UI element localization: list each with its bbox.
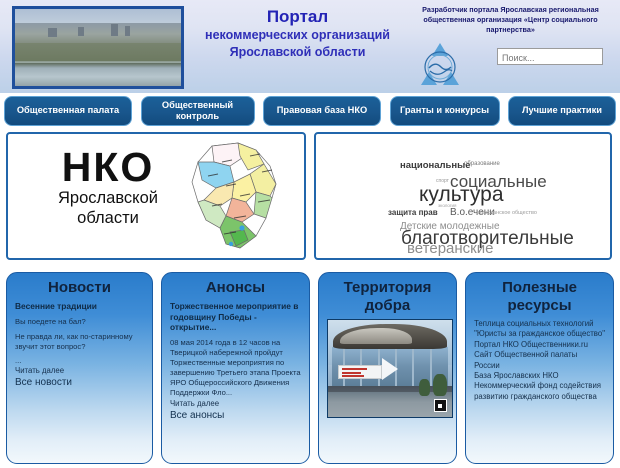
site-title-line-1: Портал [190, 6, 405, 27]
tag-cloud-item[interactable]: образование [464, 161, 500, 167]
site-title-line-2: некоммерческих организаций [190, 27, 405, 44]
main-navigation: Общественная палата Общественный контрол… [0, 96, 620, 126]
news-see-all-link[interactable]: Все новости [15, 376, 144, 390]
resource-link-noncommercial-fund[interactable]: Некоммерческий фонд содействия развитию … [474, 381, 605, 402]
news-item-ellipsis: ... [15, 357, 144, 365]
yaroslavl-panorama-photo [12, 6, 184, 89]
card-resources-title-line-1: Полезные [470, 279, 609, 297]
developer-credit-text: Разработчик портала Ярославская регионал… [408, 5, 613, 35]
nko-wordmark: НКО Ярославской области [34, 146, 182, 228]
tag-cloud-item[interactable]: ветеранские [407, 240, 493, 257]
resource-link-public-chamber[interactable]: Сайт Общественной палаты России [474, 350, 605, 371]
card-territory-of-kindness: Территория добра [318, 272, 457, 464]
resource-link-nko-database[interactable]: База Ярославских НКО [474, 371, 605, 381]
card-announcements-title: Анонсы [162, 273, 309, 299]
handshake-emblem-logo [414, 39, 466, 91]
card-resources-body: Теплица социальных технологий "Юристы за… [466, 317, 613, 406]
nko-region-line-1: Ярославской [34, 188, 182, 208]
content-cards-row: Новости Весенние традиции Вы поедете на … [0, 272, 620, 464]
tag-cloud: национальныеобразованиеспортсоциальныеку… [316, 134, 610, 258]
card-announcements: Анонсы Торжественное мероприятие в годов… [161, 272, 310, 464]
card-territory-title: Территория добра [319, 273, 456, 317]
yaroslavl-region-map [178, 140, 290, 254]
announcement-item-title[interactable]: Торжественное мероприятие в годовщину По… [170, 301, 301, 333]
resource-link-nko-portal[interactable]: Портал НКО Общественники.ru [474, 340, 605, 350]
news-item-line-1: Вы поедете на бал? [15, 317, 144, 327]
tag-cloud-item[interactable]: культура [419, 183, 504, 207]
video-player[interactable] [327, 319, 453, 418]
nav-item-grants-contests[interactable]: Гранты и конкурсы [390, 96, 500, 126]
card-resources-title-line-2: ресурсы [470, 297, 609, 315]
play-icon[interactable] [382, 358, 398, 380]
search-input[interactable] [497, 48, 603, 65]
tag-cloud-item[interactable]: защита прав [388, 208, 438, 217]
news-read-more-link[interactable]: Читать далее [15, 365, 144, 376]
site-header: Портал некоммерческих организаций Яросла… [0, 0, 620, 93]
nko-logo-panel: НКО Ярославской области [6, 132, 306, 260]
building-banner [338, 365, 382, 380]
resources-link-list: Теплица социальных технологий "Юристы за… [474, 319, 605, 402]
resource-link-teplica[interactable]: Теплица социальных технологий [474, 319, 605, 329]
card-news: Новости Весенние традиции Вы поедете на … [6, 272, 153, 464]
card-news-title: Новости [7, 273, 152, 299]
card-territory-title-line-1: Территория [323, 279, 452, 297]
tag-cloud-item[interactable]: национальные [400, 160, 471, 171]
announcements-read-more-link[interactable]: Читать далее [170, 398, 301, 409]
card-useful-resources: Полезные ресурсы Теплица социальных техн… [465, 272, 614, 464]
banner-row: НКО Ярославской области [0, 132, 620, 260]
announcement-item-body: 08 мая 2014 года в 12 часов на Тверицкой… [170, 338, 301, 398]
card-news-body: Весенние традиции Вы поедете на бал? Не … [7, 299, 152, 394]
nav-item-best-practices[interactable]: Лучшие практики [508, 96, 616, 126]
announcements-see-all-link[interactable]: Все анонсы [170, 409, 301, 423]
card-resources-title: Полезные ресурсы [466, 273, 613, 317]
nko-acronym: НКО [34, 146, 182, 188]
page-root: Портал некоммерческих организаций Яросла… [0, 0, 620, 468]
tag-cloud-item[interactable]: гражданское общество [478, 210, 537, 216]
nav-item-public-control[interactable]: Общественный контроль [141, 96, 255, 126]
nko-region-line-2: области [34, 208, 182, 228]
card-announcements-body: Торжественное мероприятие в годовщину По… [162, 299, 309, 427]
news-item-title[interactable]: Весенние традиции [15, 301, 144, 312]
nav-item-legal-base[interactable]: Правовая база НКО [263, 96, 381, 126]
site-title: Портал некоммерческих организаций Яросла… [190, 6, 405, 61]
fullscreen-icon[interactable] [434, 399, 447, 412]
tag-cloud-panel: национальныеобразованиеспортсоциальныеку… [314, 132, 612, 260]
news-item-line-2: Не правда ли, как по-старинному звучит э… [15, 332, 144, 352]
resource-link-lawyers[interactable]: "Юристы за гражданское общество" [474, 329, 605, 339]
card-territory-title-line-2: добра [323, 297, 452, 315]
site-title-line-3: Ярославской области [190, 44, 405, 61]
nav-item-public-chamber[interactable]: Общественная палата [4, 96, 132, 126]
